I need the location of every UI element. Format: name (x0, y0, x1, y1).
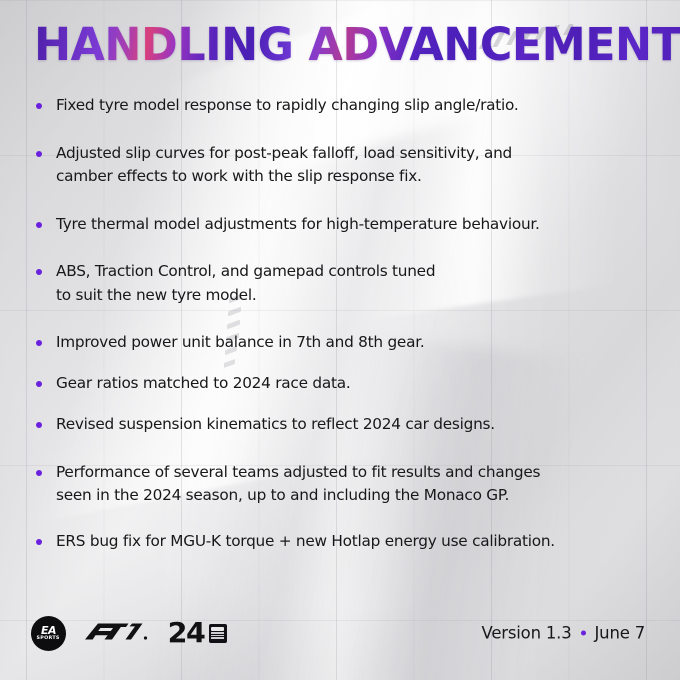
list-item-text: Gear ratios matched to 2024 race data. (56, 372, 350, 396)
version-info: Version 1.3 June 7 (482, 624, 645, 643)
pegi-rating-top (211, 627, 224, 631)
brand-lockup: EA SPORTS 24 (31, 612, 227, 654)
list-item-text: ABS, Traction Control, and gamepad contr… (56, 260, 435, 307)
bullet-dot-icon (36, 151, 42, 157)
version-label: Version 1.3 (482, 624, 572, 643)
bullet-dot-icon (36, 539, 42, 545)
list-item: Revised suspension kinematics to reflect… (36, 413, 652, 437)
bullet-dot-icon (36, 103, 42, 109)
list-item: Tyre thermal model adjustments for high-… (36, 213, 652, 237)
release-date-label: June 7 (595, 624, 645, 643)
f1-24-logo: 24 (83, 619, 227, 647)
list-item-text: ERS bug fix for MGU-K torque + new Hotla… (56, 530, 555, 554)
list-item-text: Revised suspension kinematics to reflect… (56, 413, 495, 437)
footer: EA SPORTS 24 (0, 612, 680, 654)
list-item-text: Improved power unit balance in 7th and 8… (56, 331, 424, 355)
bullet-dot-icon (36, 340, 42, 346)
list-item-text: Performance of several teams adjusted to… (56, 461, 540, 508)
bullet-dot-icon (36, 470, 42, 476)
list-item: Improved power unit balance in 7th and 8… (36, 331, 652, 355)
bullet-dot-icon (36, 269, 42, 275)
f1-logo-icon (83, 620, 165, 646)
separator-dot-icon (581, 631, 586, 636)
ea-sports-logo-icon: EA SPORTS (31, 616, 66, 651)
list-item: ERS bug fix for MGU-K torque + new Hotla… (36, 530, 652, 554)
list-item: Performance of several teams adjusted to… (36, 461, 652, 508)
list-item: Gear ratios matched to 2024 race data. (36, 372, 652, 396)
ea-sports-word: SPORTS (37, 637, 60, 642)
list-item-text: Fixed tyre model response to rapidly cha… (56, 94, 518, 118)
list-item: ABS, Traction Control, and gamepad contr… (36, 260, 652, 307)
bullet-dot-icon (36, 422, 42, 428)
list-item-text: Tyre thermal model adjustments for high-… (56, 213, 540, 237)
list-item: Fixed tyre model response to rapidly cha… (36, 94, 652, 118)
bullet-dot-icon (36, 381, 42, 387)
list-item-text: Adjusted slip curves for post-peak fallo… (56, 142, 512, 189)
pegi-rating-bars (211, 632, 224, 639)
page-title: HANDLING ADVANCEMENTS (34, 22, 680, 67)
ea-sports-mark: EA (41, 625, 56, 636)
pegi-rating-icon (209, 624, 227, 643)
list-item: Adjusted slip curves for post-peak fallo… (36, 142, 652, 189)
patch-notes-card: HANDLING ADVANCEMENTS Fixed tyre model r… (0, 0, 680, 680)
patch-notes-list: Fixed tyre model response to rapidly cha… (36, 94, 652, 553)
bullet-dot-icon (36, 222, 42, 228)
f1-year-label: 24 (168, 619, 205, 647)
